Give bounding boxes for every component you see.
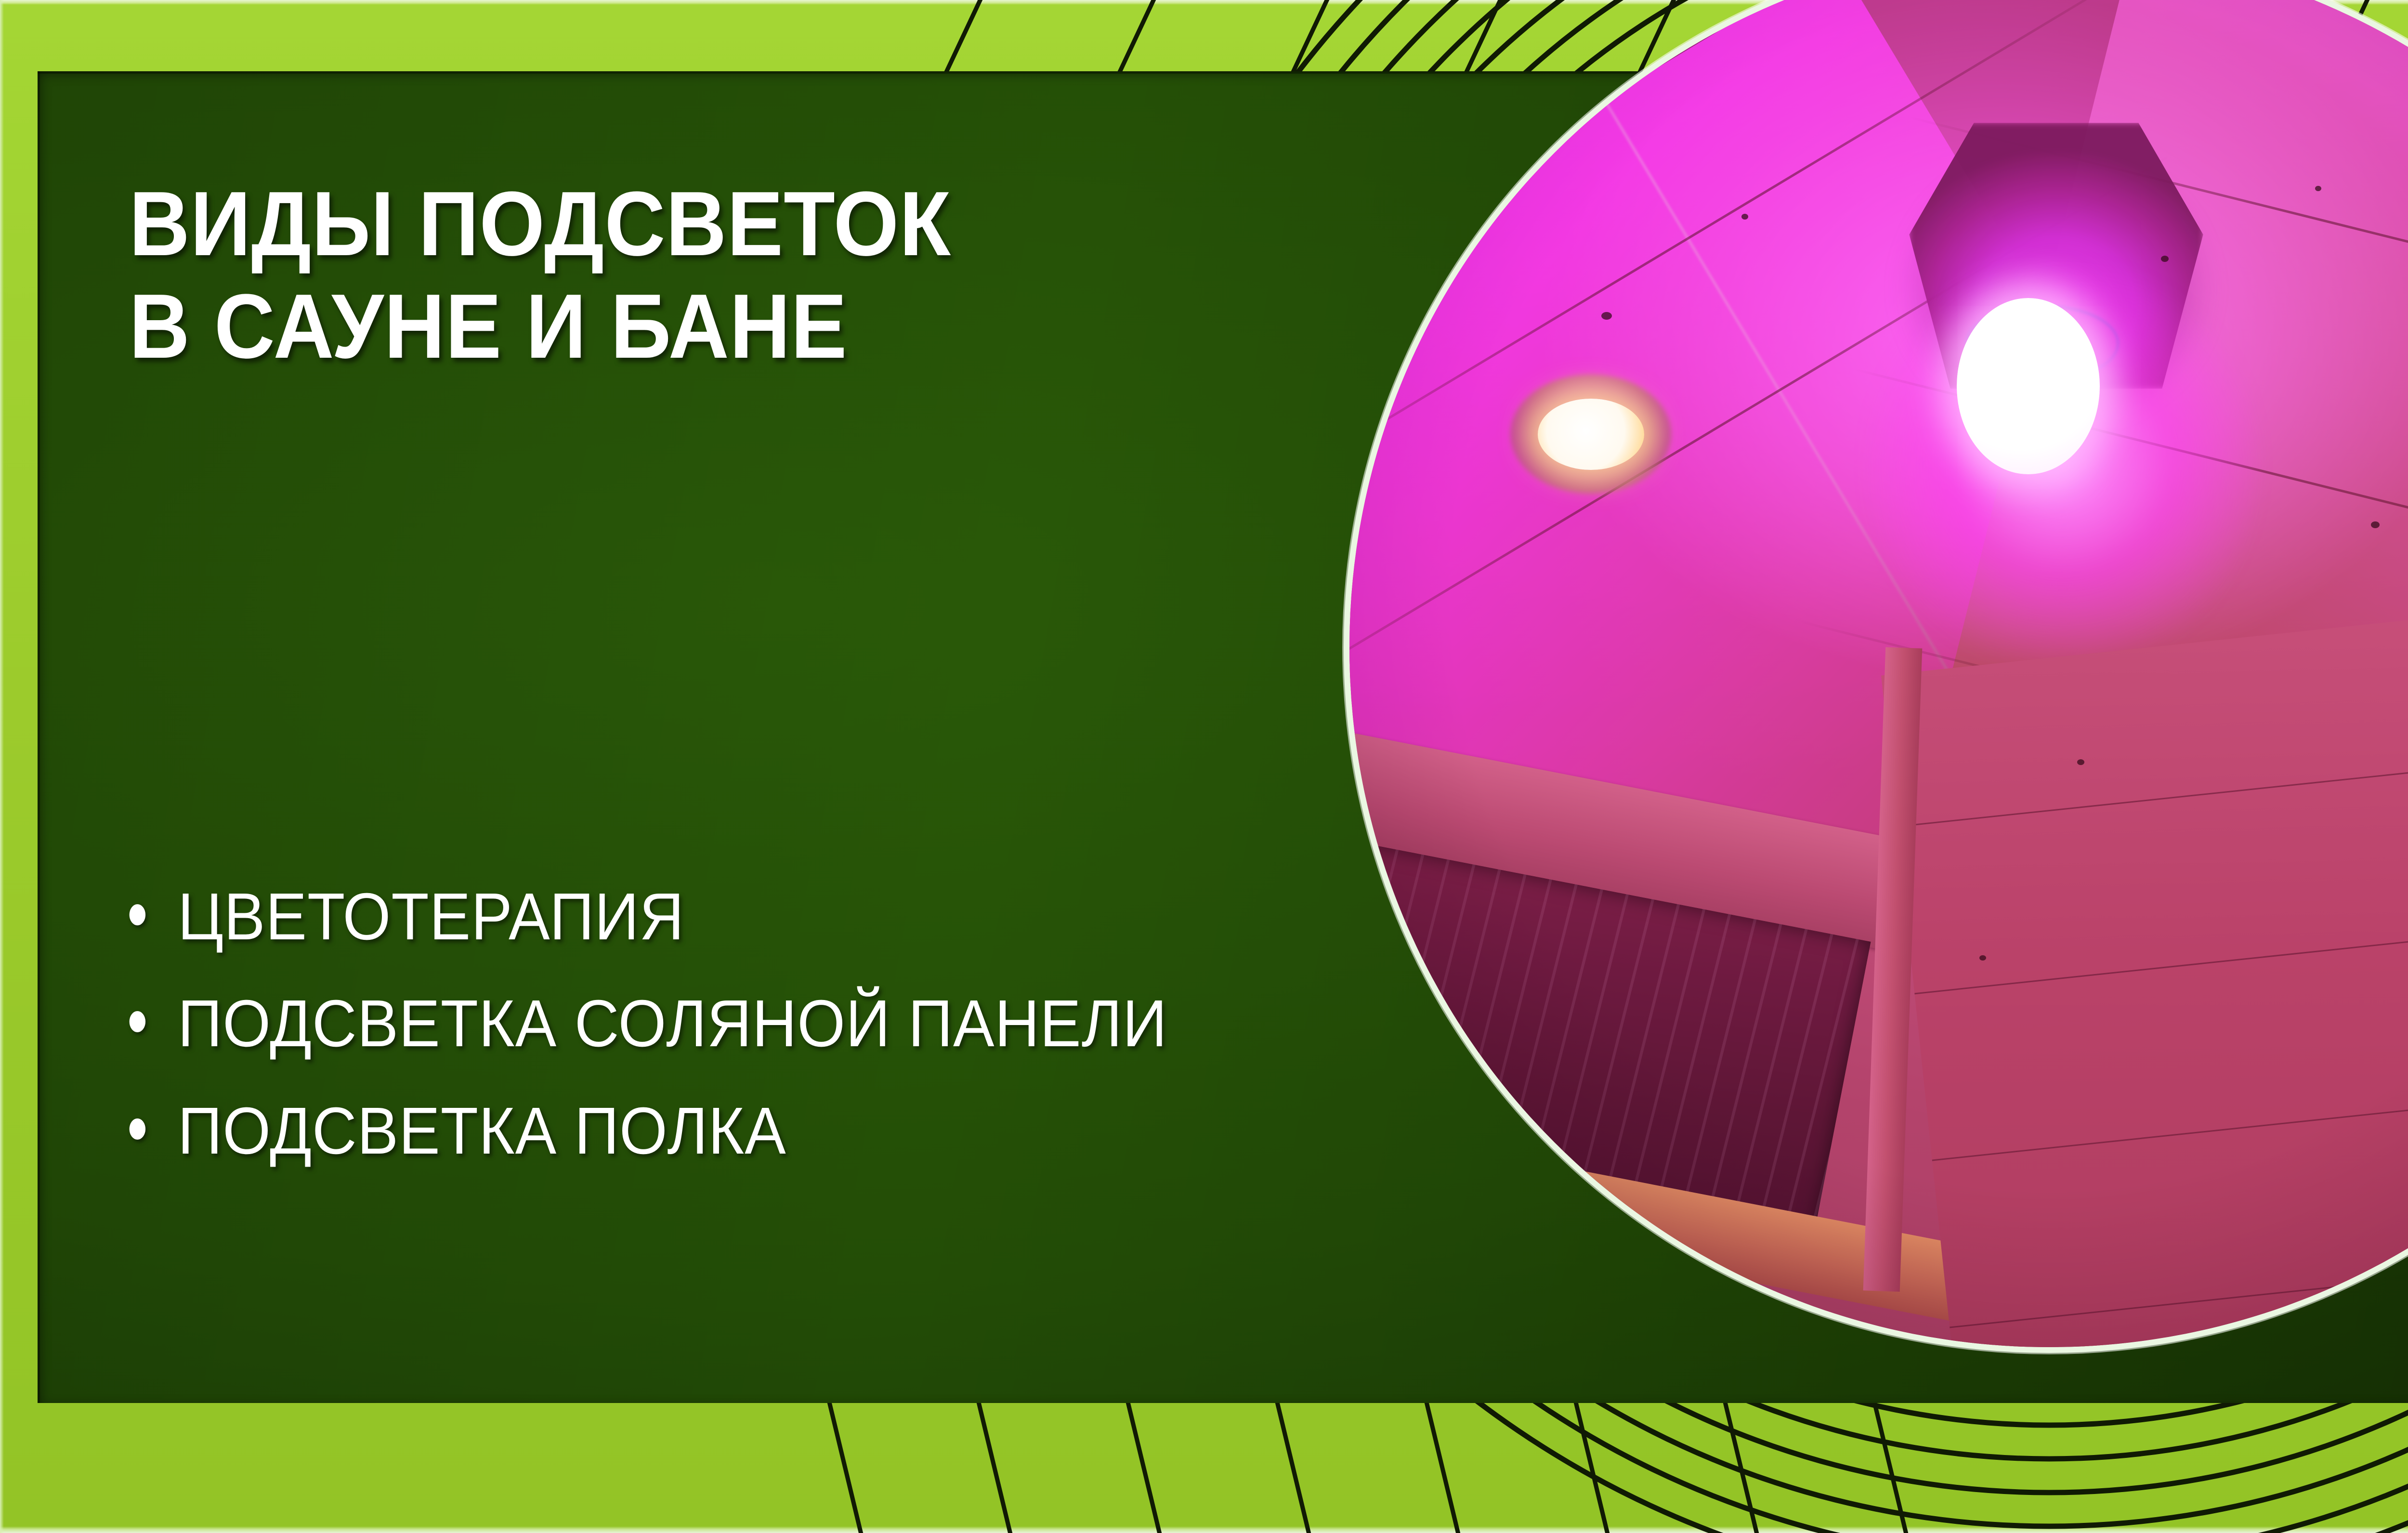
list-item-label: ПОДСВЕТКА СОЛЯНОЙ ПАНЕЛИ [178,987,1167,1061]
bottom-slash-decor [0,1403,2408,1533]
wall-plank-seam [1897,721,2408,828]
bottom-slash-svg [0,1403,2408,1533]
feature-list: ЦВЕТОТЕРАПИЯ ПОДСВЕТКА СОЛЯНОЙ ПАНЕЛИ ПО… [120,876,1305,1197]
sauna-photo [1349,0,2408,1347]
wood-knot [1741,214,1748,220]
list-item: ЦВЕТОТЕРАПИЯ [120,876,1222,957]
ceiling-bulb [1957,298,2099,474]
wall-plank-seam [1950,1221,2408,1328]
wood-knot [1601,312,1612,320]
wall-plank-seam [1932,1054,2408,1161]
sauna-photo-content [1349,0,2408,1347]
wood-knot [1979,955,1986,961]
list-item: ПОДСВЕТКА ПОЛКА [120,1091,1222,1171]
list-item-label: ПОДСВЕТКА ПОЛКА [178,1094,786,1168]
list-item: ПОДСВЕТКА СОЛЯНОЙ ПАНЕЛИ [120,983,1222,1064]
page-title: ВИДЫ ПОДСВЕТОК В САУНЕ И БАНЕ [129,173,1237,378]
wall-plank-seam [1915,887,2408,994]
frame-highlight-left [0,0,4,1533]
recessed-spot-left [1510,375,1671,494]
list-item-label: ЦВЕТОТЕРАПИЯ [178,880,684,954]
spot-lens [1538,399,1644,470]
panel-bevel-left [38,71,40,1403]
poster-canvas: ВИДЫ ПОДСВЕТОК В САУНЕ И БАНЕ ЦВЕТОТЕРАП… [0,0,2408,1533]
right-wall [1881,570,2408,1347]
